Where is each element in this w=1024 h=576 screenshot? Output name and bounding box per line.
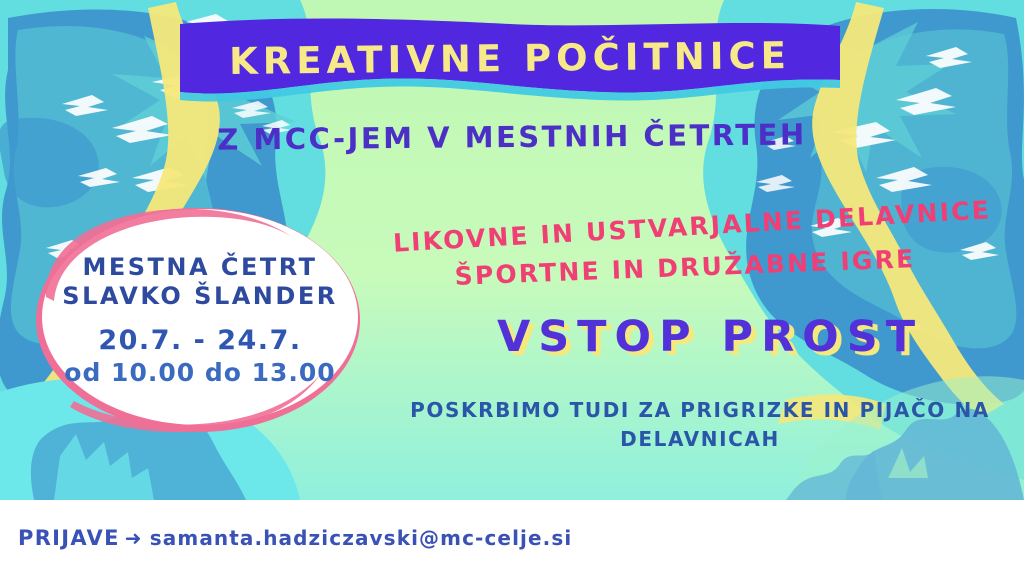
signup-label: PRIJAVE bbox=[18, 526, 120, 550]
footer-bar: PRIJAVE ➜ samanta.hadziczavski@mc-celje.… bbox=[0, 500, 1024, 576]
location-dates: 20.7. - 24.7. bbox=[98, 325, 301, 356]
location-card: MESTNA ČETRT SLAVKO ŠLANDER 20.7. - 24.7… bbox=[30, 205, 370, 435]
location-hours: od 10.00 do 13.00 bbox=[64, 358, 335, 387]
signup-email[interactable]: samanta.hadziczavski@mc-celje.si bbox=[150, 526, 573, 550]
poster-canvas: KREATIVNE POČITNICE Z MCC-JEM V MESTNIH … bbox=[0, 0, 1024, 576]
admission-text: VSTOP PROST bbox=[420, 312, 1000, 362]
title-banner: KREATIVNE POČITNICE bbox=[180, 18, 840, 110]
poster-title: KREATIVNE POČITNICE bbox=[180, 15, 841, 102]
location-line-2: SLAVKO ŠLANDER bbox=[62, 282, 337, 311]
admission-heading: VSTOP PROST VSTOP PROST bbox=[420, 312, 1000, 368]
location-card-text: MESTNA ČETRT SLAVKO ŠLANDER 20.7. - 24.7… bbox=[30, 205, 370, 435]
signup-contact: PRIJAVE ➜ samanta.hadziczavski@mc-celje.… bbox=[18, 500, 572, 576]
refreshments-note: POSKRBIMO TUDI ZA PRIGRIZKE IN PIJAČO NA… bbox=[400, 396, 1000, 454]
arrow-icon: ➜ bbox=[125, 526, 143, 550]
location-line-1: MESTNA ČETRT bbox=[82, 253, 317, 282]
